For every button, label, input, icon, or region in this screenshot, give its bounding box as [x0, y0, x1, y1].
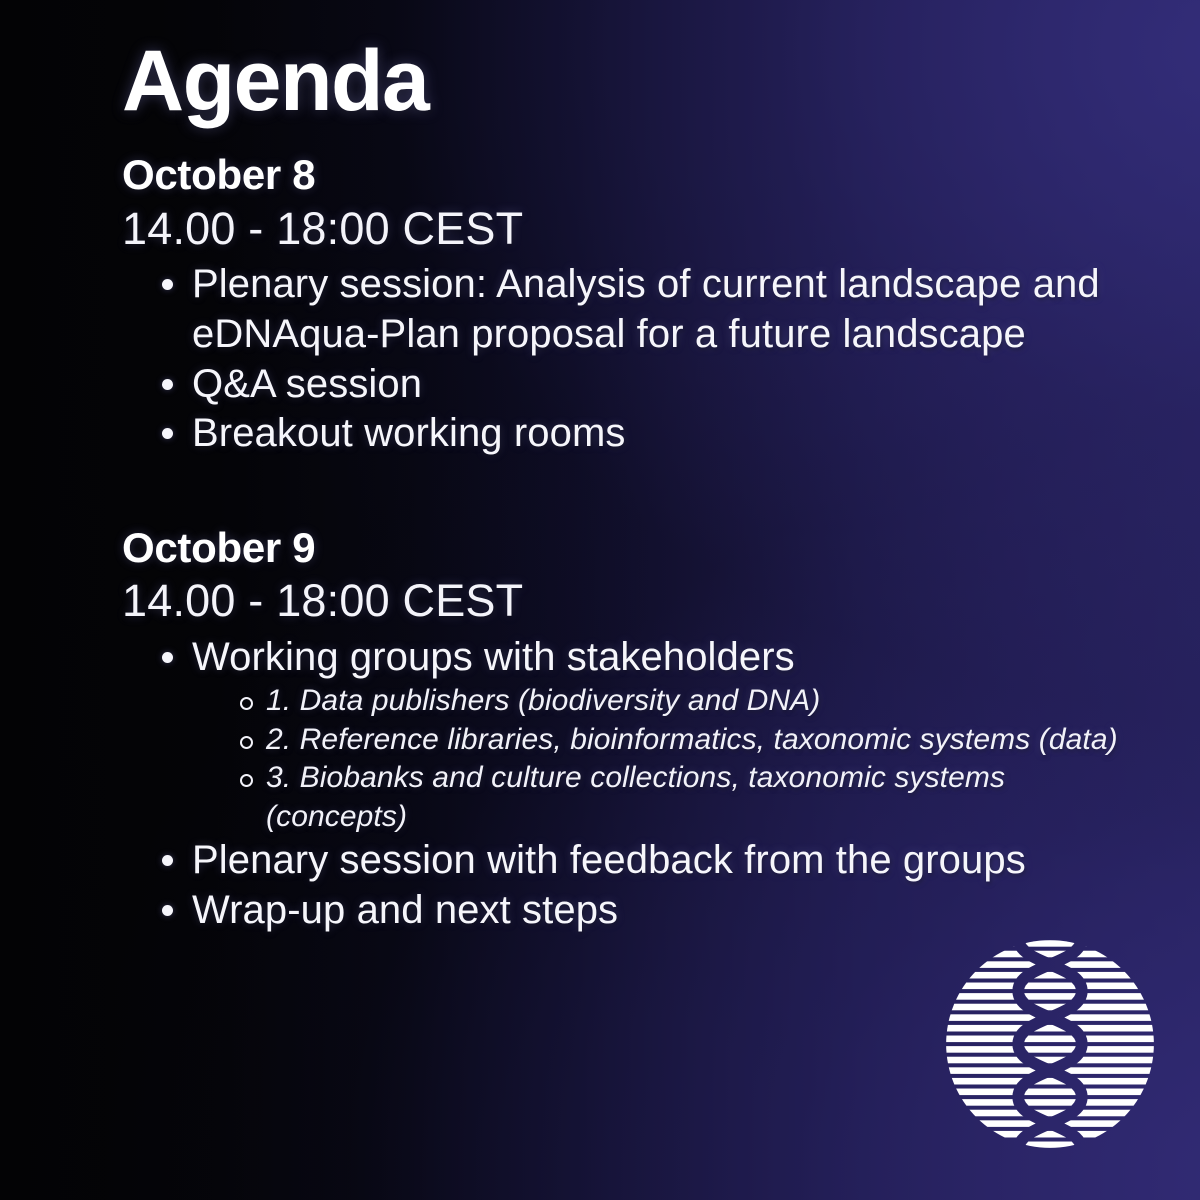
sub-list-item: 2. Reference libraries, bioinformatics, …: [236, 721, 1122, 759]
dna-helix-icon: [943, 938, 1157, 1150]
logo-stripes: [944, 940, 1156, 1148]
list-item-label: Wrap-up and next steps: [192, 886, 1122, 936]
day-date: October 9: [122, 523, 1122, 573]
list-item: Q&A session: [160, 360, 1122, 410]
day-date: October 8: [122, 150, 1122, 200]
list-item-label: Working groups with stakeholders: [192, 633, 1122, 683]
sub-list-item: 1. Data publishers (biodiversity and DNA…: [236, 682, 1122, 720]
dna-helix-circle-logo: [943, 938, 1157, 1150]
agenda-slide: Agenda October 8 14.00 - 18:00 CEST Plen…: [0, 0, 1200, 1200]
list-item-label: Plenary session with feedback from the g…: [192, 836, 1122, 886]
list-item-label: Q&A session: [192, 360, 1122, 410]
agenda-list-day-2: Working groups with stakeholders 1. Data…: [160, 633, 1122, 935]
slide-content: Agenda October 8 14.00 - 18:00 CEST Plen…: [122, 36, 1122, 939]
sub-list-item: 3. Biobanks and culture collections, tax…: [236, 759, 1122, 836]
list-item: Plenary session with feedback from the g…: [160, 836, 1122, 886]
list-item: Plenary session: Analysis of current lan…: [160, 260, 1122, 359]
day-time: 14.00 - 18:00 CEST: [122, 200, 1122, 259]
list-item: Breakout working rooms: [160, 409, 1122, 459]
day-block-1: October 8 14.00 - 18:00 CEST Plenary ses…: [122, 150, 1122, 458]
day-block-2: October 9 14.00 - 18:00 CEST Working gro…: [122, 523, 1122, 935]
page-title: Agenda: [122, 36, 1122, 126]
list-item-label: Plenary session: Analysis of current lan…: [192, 260, 1122, 359]
list-item: Wrap-up and next steps: [160, 886, 1122, 936]
day-time: 14.00 - 18:00 CEST: [122, 572, 1122, 631]
agenda-list-day-1: Plenary session: Analysis of current lan…: [160, 260, 1122, 458]
list-item: Working groups with stakeholders 1. Data…: [160, 633, 1122, 836]
list-item-label: Breakout working rooms: [192, 409, 1122, 459]
agenda-sublist: 1. Data publishers (biodiversity and DNA…: [236, 682, 1122, 836]
